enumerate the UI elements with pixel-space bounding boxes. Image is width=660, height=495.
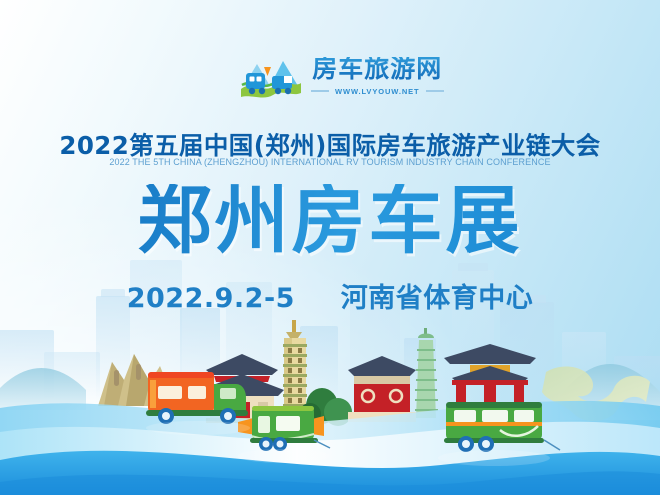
green-tower <box>415 328 438 418</box>
logo-url-row: WWW.LVYOUW.NET <box>311 87 444 96</box>
dash-left-icon <box>311 90 329 92</box>
rv-mountain-logo-icon <box>240 52 302 100</box>
skyline-building-cap <box>458 263 488 271</box>
poster-canvas: 房车旅游网 WWW.LVYOUW.NET 2022第五届中国(郑州)国际房车旅游… <box>0 0 660 495</box>
illustration-scene <box>0 310 660 495</box>
logo-url: WWW.LVYOUW.NET <box>335 87 420 96</box>
event-headline: 郑州房车展 <box>0 184 660 258</box>
logo-text-block: 房车旅游网 WWW.LVYOUW.NET <box>311 57 444 96</box>
conference-title-en: 2022 THE 5TH CHINA (ZHENGZHOU) INTERNATI… <box>0 157 660 167</box>
dash-right-icon <box>426 90 444 92</box>
logo-brand-cn: 房车旅游网 <box>312 57 442 82</box>
site-logo[interactable]: 房车旅游网 WWW.LVYOUW.NET <box>240 52 444 100</box>
red-pavilion <box>348 356 416 422</box>
